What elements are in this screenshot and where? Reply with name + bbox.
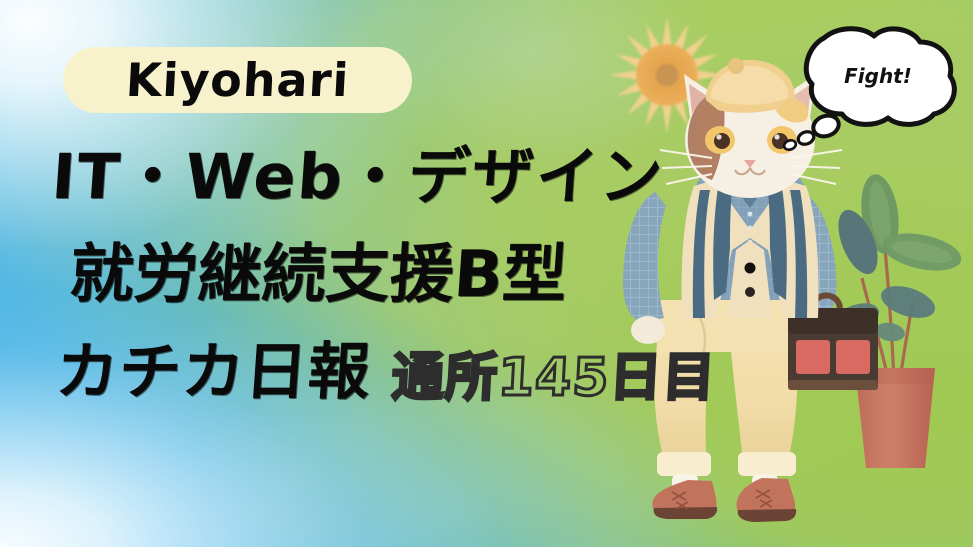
brand-badge: Kiyohari — [63, 47, 412, 113]
headline-day-counter: 通所145日目 — [391, 352, 717, 404]
paw-left — [631, 316, 665, 344]
cat-eye-left — [705, 126, 735, 154]
thought-bubble-label-wrap: Fight! — [786, 22, 966, 140]
headline-line-3: カチカ日報 — [54, 341, 373, 403]
vest-button-bottom — [745, 287, 755, 297]
headline-line-1: IT・Web・デザイン — [50, 146, 666, 208]
banner-canvas: Fight! Kiyohari IT・Web・デザイン 就労継続支援B型 カチカ… — [0, 0, 973, 547]
vest-button-top — [745, 263, 756, 274]
brand-badge-label: Kiyohari — [125, 57, 351, 103]
trouser-cuff-right — [738, 452, 796, 476]
trouser-cuff-left — [657, 452, 711, 476]
headline-line-2: 就労継続支援B型 — [68, 243, 569, 307]
thought-bubble-text: Fight! — [786, 22, 966, 130]
